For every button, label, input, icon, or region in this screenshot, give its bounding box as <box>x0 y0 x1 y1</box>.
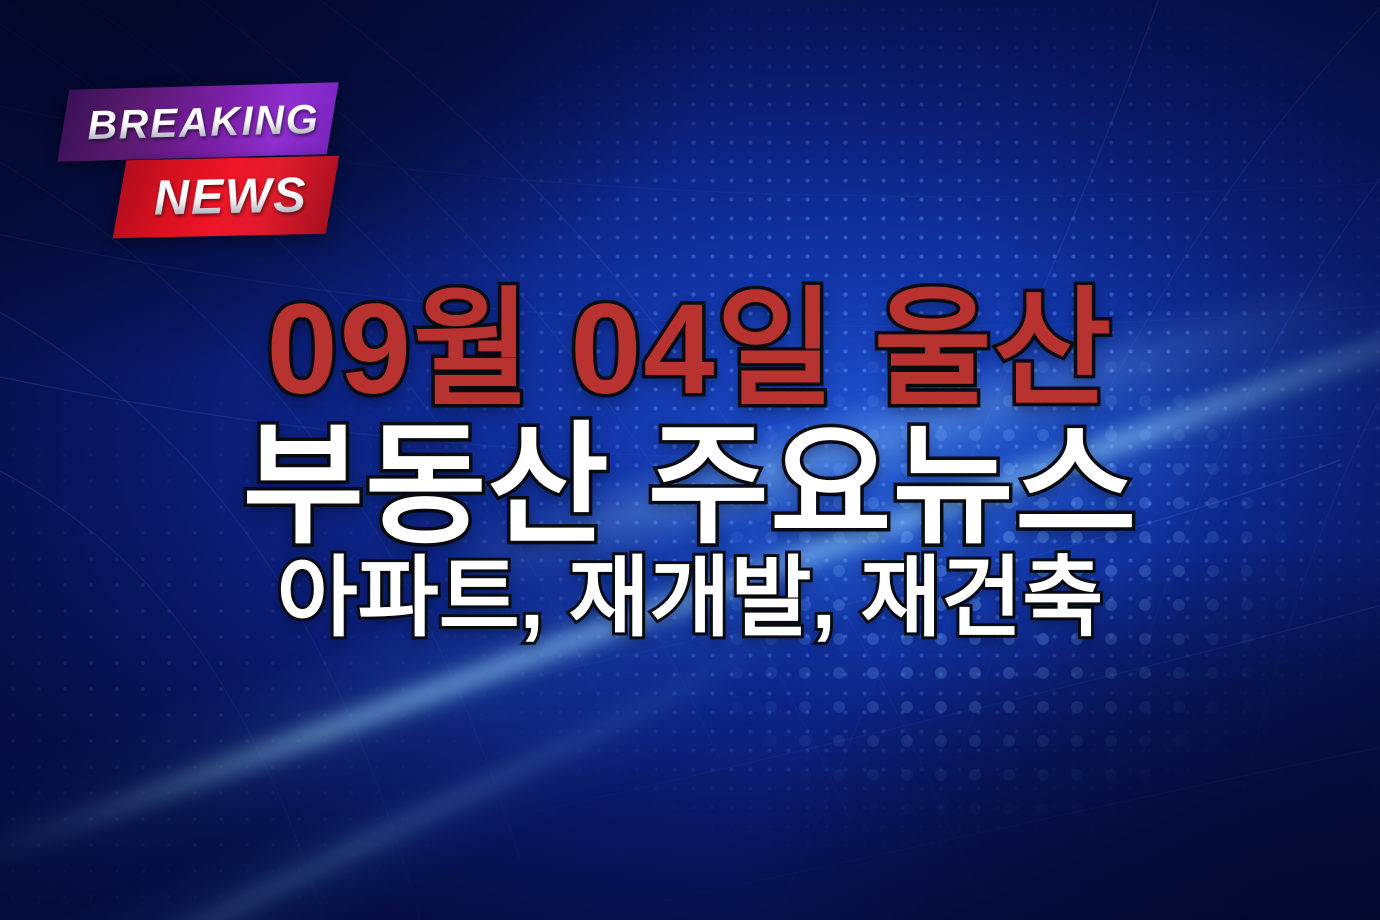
breaking-news-banner: BREAKING NEWS 09월 04일 울산 부동산 주요뉴스 아파트, 재… <box>0 0 1380 920</box>
headline-line-subtitle: 아파트, 재개발, 재건축 <box>0 554 1380 642</box>
headline-block: 09월 04일 울산 부동산 주요뉴스 아파트, 재개발, 재건축 <box>0 286 1380 642</box>
breaking-news-badge: BREAKING NEWS <box>58 86 388 261</box>
news-badge: NEWS <box>113 156 339 238</box>
headline-line-date-region: 09월 04일 울산 <box>0 286 1380 414</box>
headline-line-main: 부동산 주요뉴스 <box>0 420 1380 552</box>
news-badge-label: NEWS <box>153 167 308 226</box>
breaking-badge-label: BREAKING <box>87 95 320 148</box>
breaking-badge: BREAKING <box>57 82 338 161</box>
